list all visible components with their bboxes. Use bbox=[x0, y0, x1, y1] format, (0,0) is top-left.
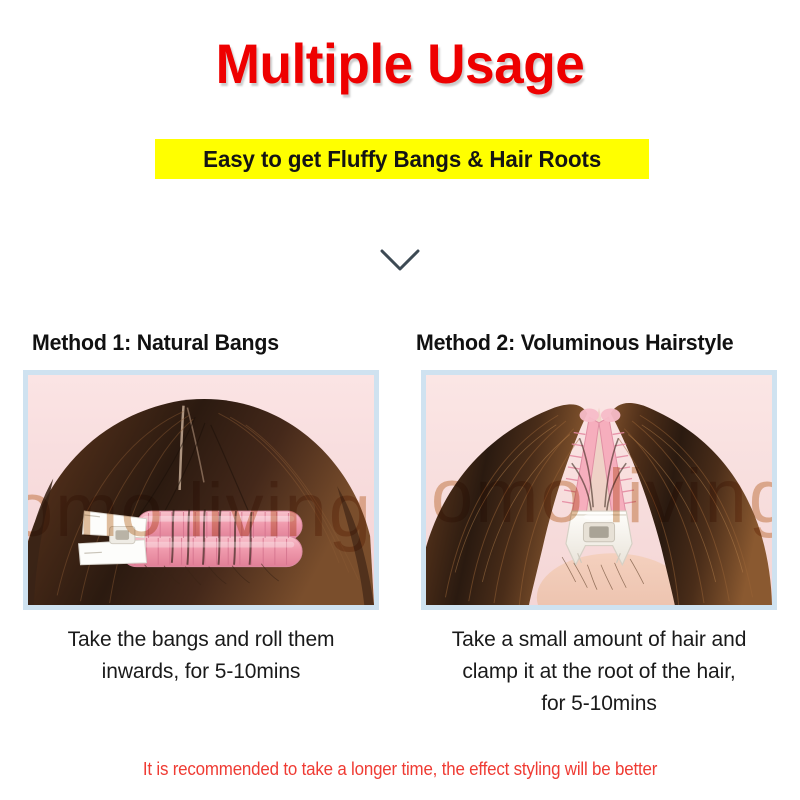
method-2-heading: Method 2: Voluminous Hairstyle bbox=[416, 330, 733, 356]
caption-line: for 5-10mins bbox=[421, 688, 777, 720]
subtitle-banner-text: Easy to get Fluffy Bangs & Hair Roots bbox=[203, 146, 601, 172]
subtitle-banner: Easy to get Fluffy Bangs & Hair Roots bbox=[155, 139, 649, 179]
method-2-caption: Take a small amount of hair and clamp it… bbox=[421, 624, 777, 720]
method-card-2: Method 2: Voluminous Hairstyle bbox=[410, 330, 788, 720]
method-1-caption: Take the bangs and roll them inwards, fo… bbox=[23, 624, 379, 688]
caption-line: inwards, for 5-10mins bbox=[23, 656, 379, 688]
method-1-heading: Method 1: Natural Bangs bbox=[32, 330, 279, 356]
method-card-1: Method 1: Natural Bangs bbox=[12, 330, 390, 720]
caption-line: Take a small amount of hair and bbox=[421, 624, 777, 656]
method-2-photo: jomo living bbox=[421, 370, 777, 610]
methods-section: Method 1: Natural Bangs bbox=[0, 330, 800, 720]
method-1-photo: jomo living bbox=[23, 370, 379, 610]
recommendation-note: It is recommended to take a longer time,… bbox=[24, 757, 776, 781]
caption-line: clamp it at the root of the hair, bbox=[421, 656, 777, 688]
page-title: Multiple Usage bbox=[20, 33, 780, 95]
caption-line: Take the bangs and roll them bbox=[23, 624, 379, 656]
chevron-down-icon bbox=[376, 245, 424, 275]
